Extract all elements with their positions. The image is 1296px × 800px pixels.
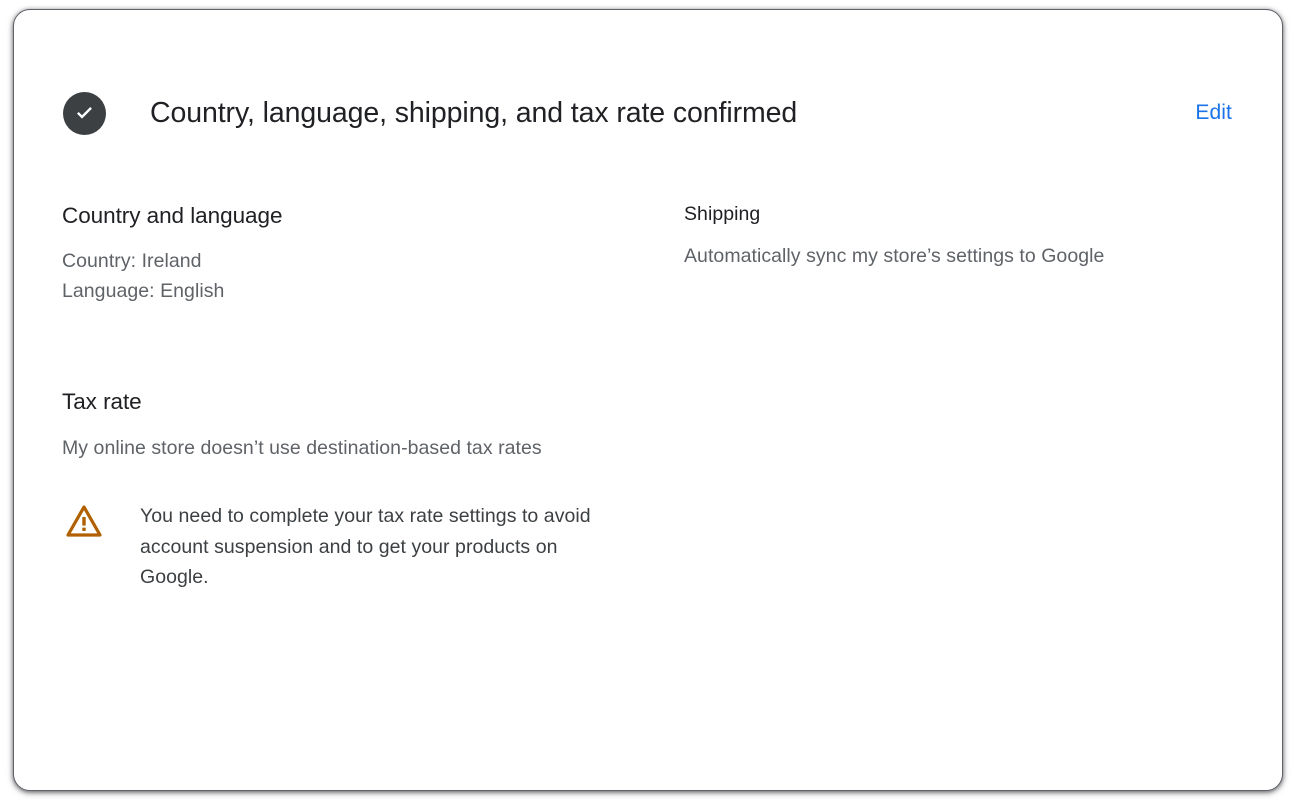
language-value: Language: English — [62, 277, 661, 307]
confirmation-card: Country, language, shipping, and tax rat… — [13, 9, 1283, 791]
card-body-columns: Country and language Country: Ireland La… — [49, 202, 1246, 593]
right-column: Shipping Automatically sync my store’s s… — [661, 202, 1246, 272]
section-spacer — [62, 306, 661, 388]
section-heading-tax-rate: Tax rate — [62, 388, 661, 416]
left-column: Country and language Country: Ireland La… — [49, 202, 661, 593]
tax-rate-warning: You need to complete your tax rate setti… — [62, 501, 661, 593]
section-tax-rate: Tax rate My online store doesn’t use des… — [62, 388, 661, 593]
section-heading-country-and-language: Country and language — [62, 202, 661, 230]
section-country-and-language: Country and language Country: Ireland La… — [62, 202, 661, 306]
warning-triangle-icon — [64, 501, 106, 543]
screen-root: Country, language, shipping, and tax rat… — [0, 0, 1296, 800]
country-value: Country: Ireland — [62, 247, 661, 277]
page-title: Country, language, shipping, and tax rat… — [150, 96, 797, 130]
tax-rate-warning-text: You need to complete your tax rate setti… — [140, 501, 630, 593]
section-heading-shipping: Shipping — [684, 202, 1246, 226]
tax-rate-value: My online store doesn’t use destination-… — [62, 434, 607, 464]
card-content: Country, language, shipping, and tax rat… — [14, 10, 1282, 790]
section-shipping: Shipping Automatically sync my store’s s… — [684, 202, 1246, 272]
card-header: Country, language, shipping, and tax rat… — [49, 80, 1246, 146]
edit-link[interactable]: Edit — [1195, 101, 1246, 125]
shipping-value: Automatically sync my store’s settings t… — [684, 242, 1214, 272]
check-circle-icon — [63, 92, 106, 135]
